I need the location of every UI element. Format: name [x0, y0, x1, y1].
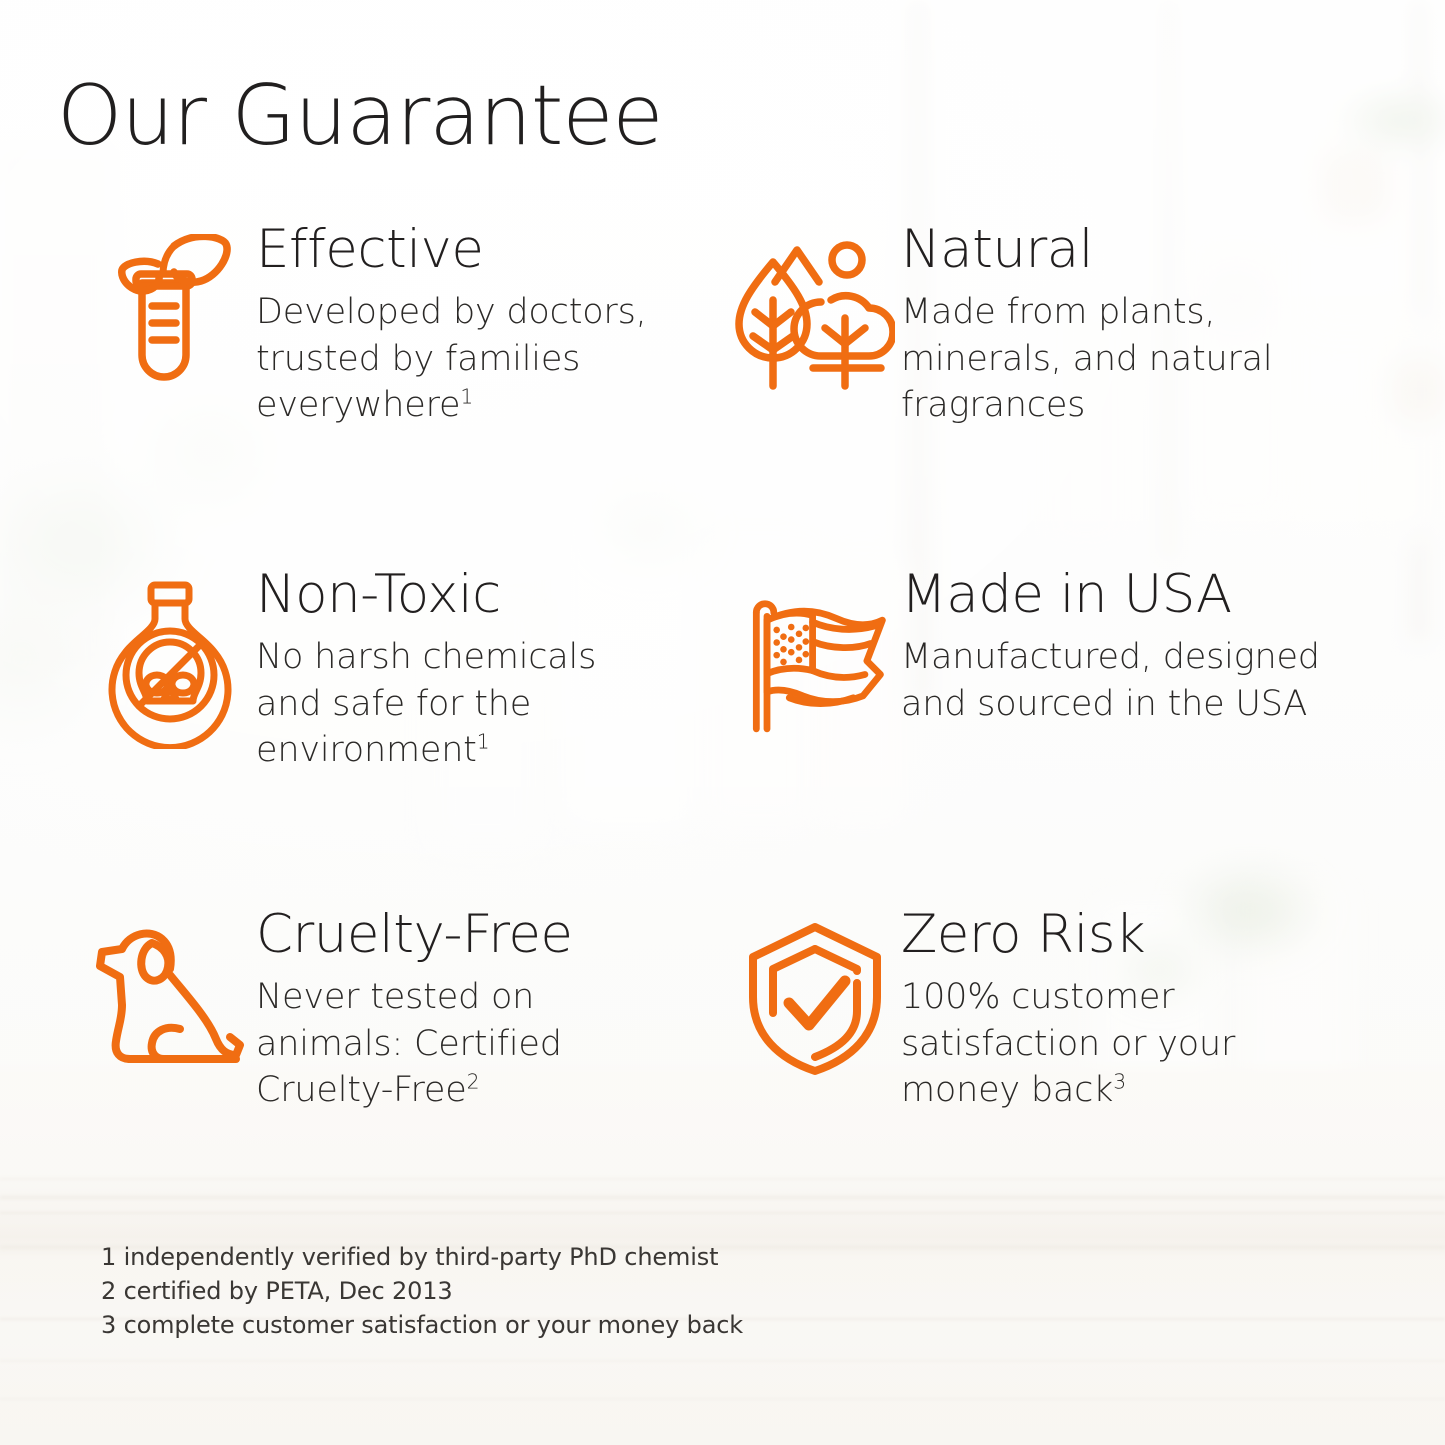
- feature-title: Natural: [901, 222, 1272, 277]
- footnote-marker: 3: [1113, 1070, 1126, 1094]
- feature-made-in-usa: Made in USA Manufactured, designed and s…: [735, 567, 1435, 739]
- feature-description: Manufactured, designed and sourced in th…: [901, 634, 1320, 727]
- feature-title: Made in USA: [901, 567, 1320, 622]
- poison-bottle-skull-prohibited-icon: [90, 567, 250, 774]
- feature-text: Non-Toxic No harsh chemicals and safe fo…: [250, 567, 596, 774]
- feature-description: Never tested on animals: Certified Cruel…: [256, 974, 573, 1114]
- page-title: Our Guarantee: [57, 74, 663, 157]
- trees-mountain-sun-icon: [735, 222, 895, 429]
- feature-description: Made from plants, minerals, and natural …: [901, 289, 1272, 429]
- footnote-marker: 1: [477, 730, 490, 754]
- feature-text: Zero Risk 100% customer satisfaction or …: [895, 907, 1235, 1114]
- sitting-dog-icon: [90, 907, 250, 1114]
- feature-cruelty-free: Cruelty-Free Never tested on animals: Ce…: [90, 907, 730, 1114]
- feature-natural: Natural Made from plants, minerals, and …: [735, 222, 1435, 429]
- feature-description: No harsh chemicals and safe for the envi…: [256, 634, 596, 774]
- feature-title: Non-Toxic: [256, 567, 596, 622]
- feature-description: Developed by doctors, trusted by familie…: [256, 289, 647, 429]
- footnote-1: 1 independently verified by third-party …: [101, 1240, 743, 1274]
- feature-text: Made in USA Manufactured, designed and s…: [895, 567, 1320, 739]
- feature-text: Cruelty-Free Never tested on animals: Ce…: [250, 907, 573, 1114]
- feature-text: Effective Developed by doctors, trusted …: [250, 222, 647, 429]
- footnote-2: 2 certified by PETA, Dec 2013: [101, 1274, 743, 1308]
- footnote-marker: 2: [467, 1070, 480, 1094]
- feature-title: Zero Risk: [901, 907, 1235, 962]
- footnotes: 1 independently verified by third-party …: [101, 1240, 743, 1342]
- footnote-3: 3 complete customer satisfaction or your…: [101, 1308, 743, 1342]
- feature-effective: Effective Developed by doctors, trusted …: [90, 222, 730, 429]
- usa-flag-icon: [735, 567, 895, 739]
- shield-check-icon: [735, 907, 895, 1114]
- test-tube-sprout-icon: [90, 222, 250, 429]
- feature-non-toxic: Non-Toxic No harsh chemicals and safe fo…: [90, 567, 730, 774]
- feature-description: 100% customer satisfaction or your money…: [901, 974, 1235, 1114]
- feature-zero-risk: Zero Risk 100% customer satisfaction or …: [735, 907, 1435, 1114]
- feature-text: Natural Made from plants, minerals, and …: [895, 222, 1272, 429]
- footnote-marker: 1: [460, 385, 473, 409]
- feature-title: Cruelty-Free: [256, 907, 573, 962]
- feature-title: Effective: [256, 222, 647, 277]
